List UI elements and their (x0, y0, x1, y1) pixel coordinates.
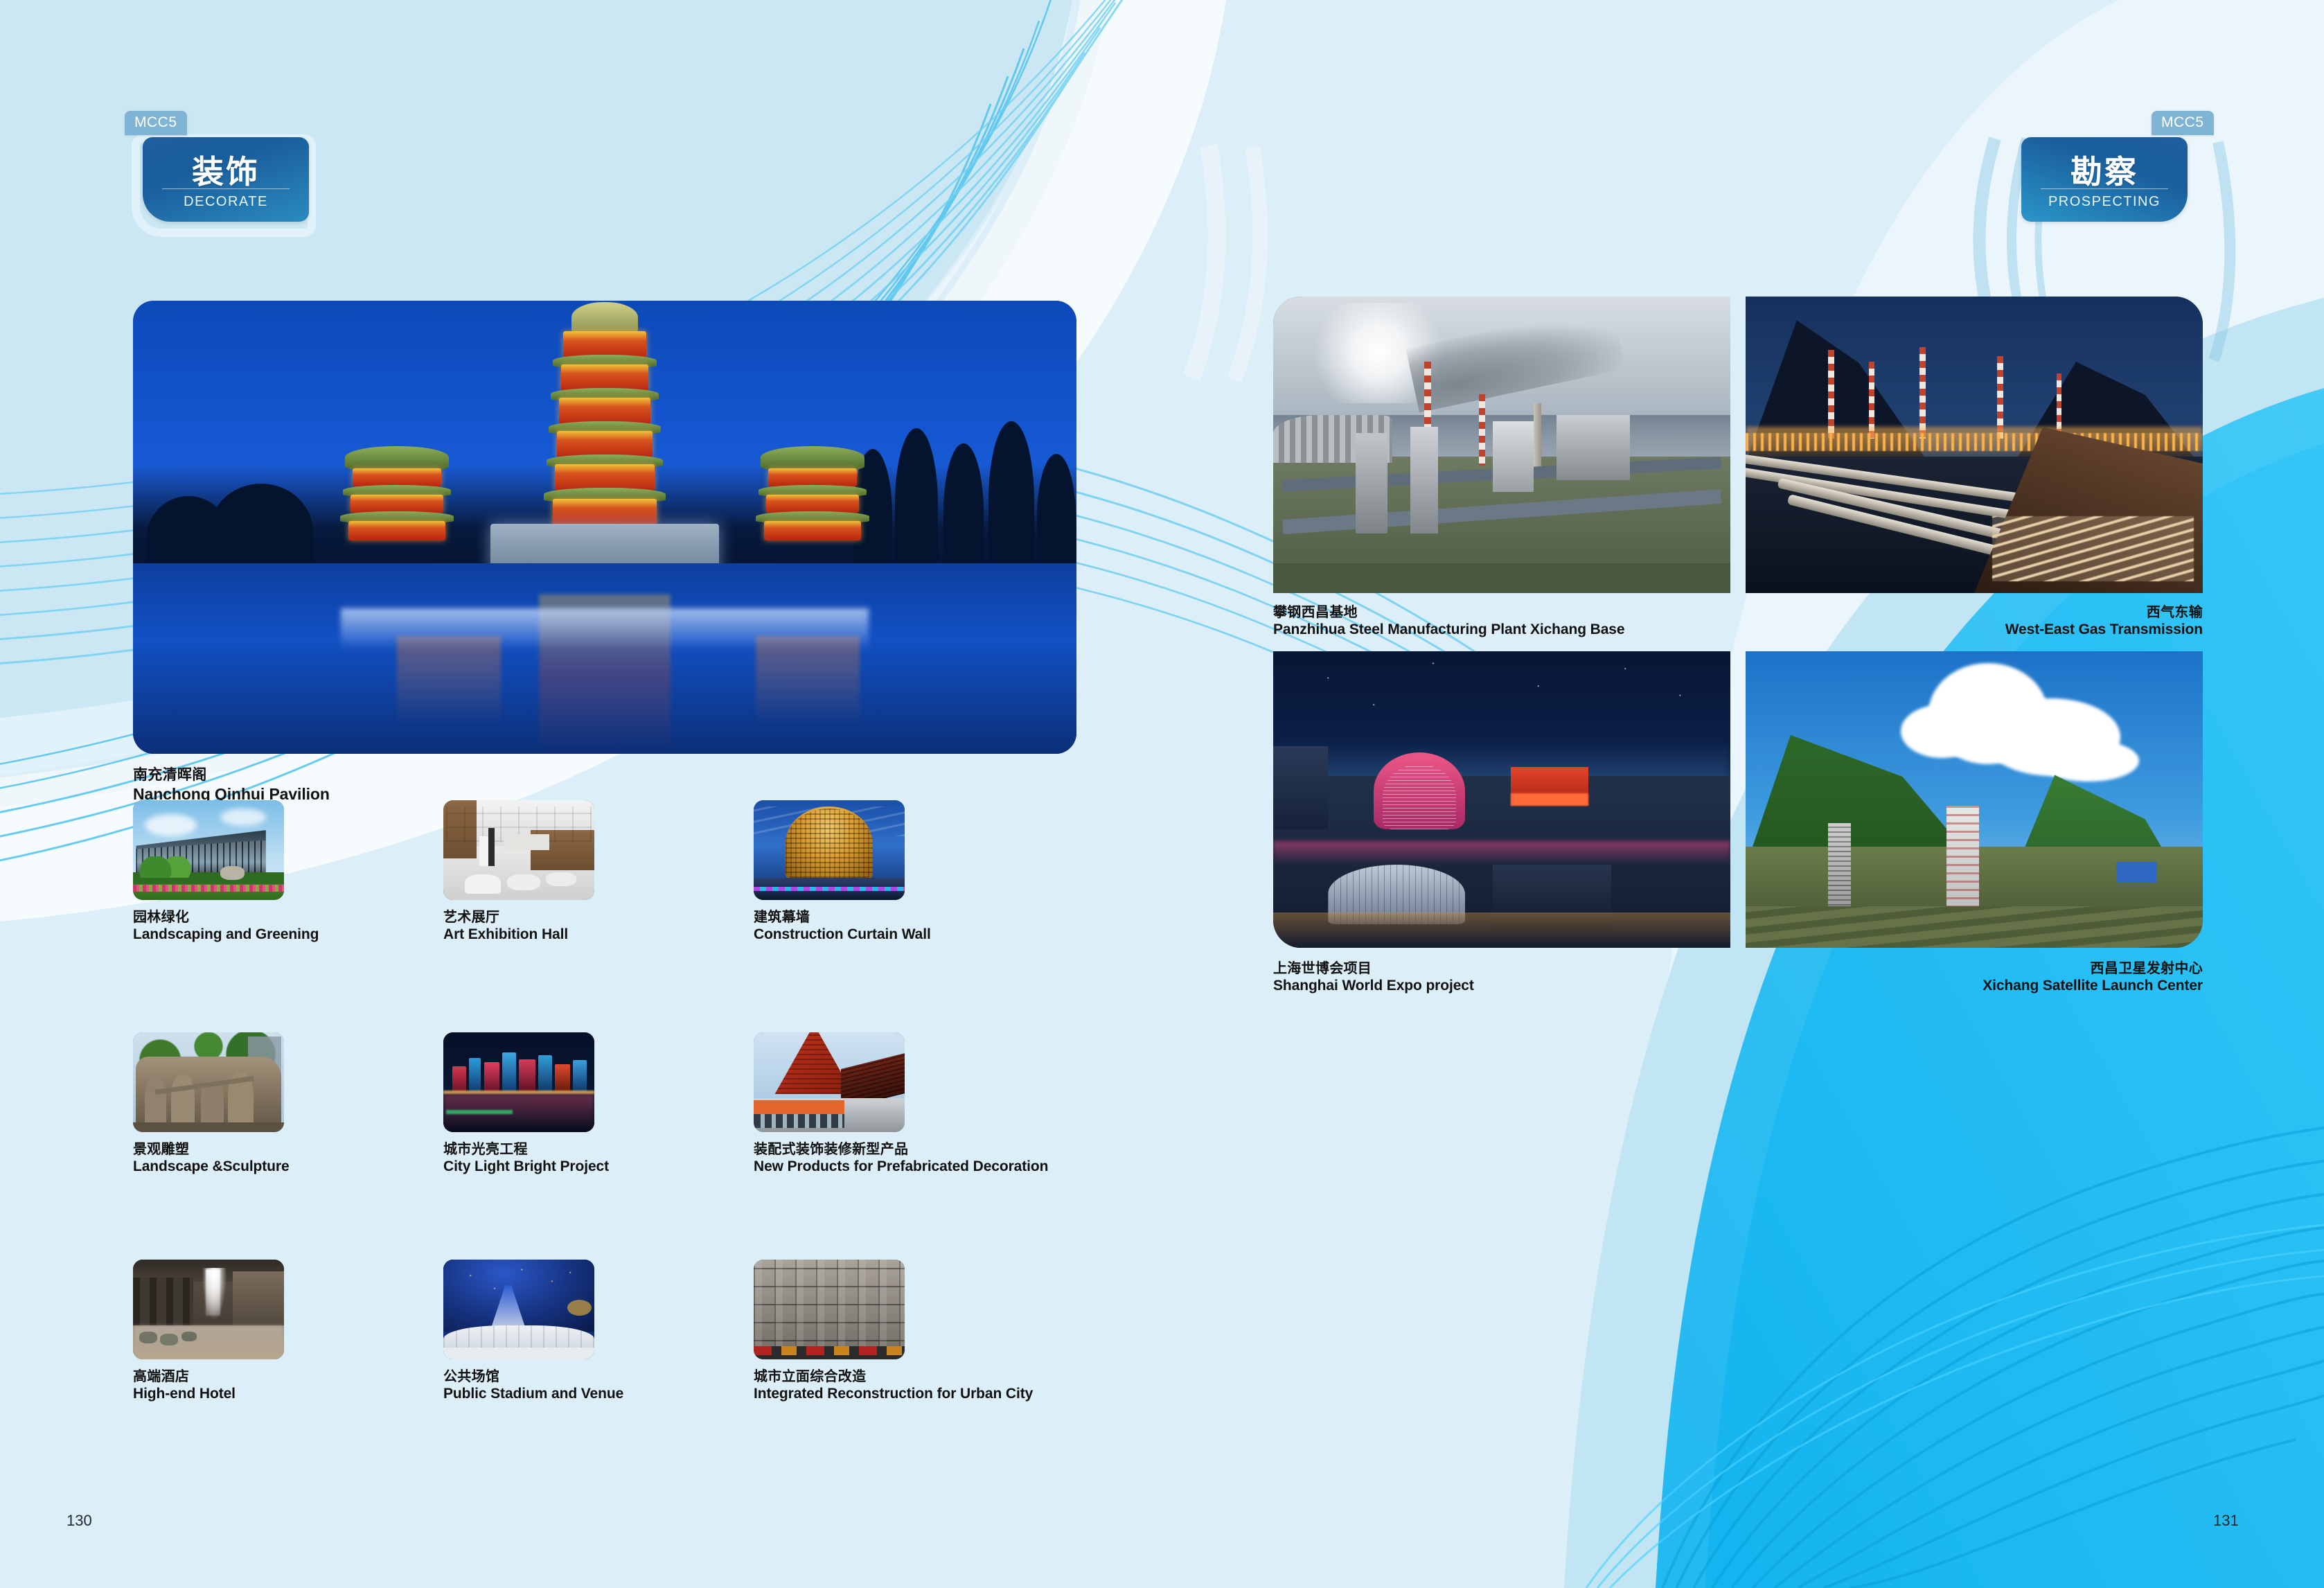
caption-right-0: 攀钢西昌基地 Panzhihua Steel Manufacturing Pla… (1273, 604, 1624, 639)
photo-west-east-gas-transmission[interactable] (1746, 297, 2203, 593)
thumb-photo-landscaping-greening[interactable] (133, 800, 284, 900)
caption-cn: 园林绿化 (133, 909, 319, 926)
badge-title-cn: 装饰 (143, 147, 309, 193)
badge-title-cn: 勘察 (2021, 147, 2188, 193)
thumb-photo-prefabricated-decoration[interactable] (754, 1032, 905, 1132)
badge-title-en: DECORATE (143, 194, 309, 210)
caption-en: Shanghai World Expo project (1273, 977, 1474, 995)
thumb-photo-urban-facade-reconstruction[interactable] (754, 1260, 905, 1359)
badge-divider (2041, 188, 2168, 189)
caption-en: Xichang Satellite Launch Center (1746, 977, 2203, 995)
caption-cn: 城市光亮工程 (443, 1141, 609, 1158)
caption-thumb-7: 公共场馆 Public Stadium and Venue (443, 1368, 623, 1403)
caption-thumb-2: 建筑幕墙 Construction Curtain Wall (754, 909, 931, 944)
caption-cn: 城市立面综合改造 (754, 1368, 1033, 1385)
thumb-photo-construction-curtain-wall[interactable] (754, 800, 905, 900)
caption-cn: 攀钢西昌基地 (1273, 604, 1624, 621)
caption-right-3: 西昌卫星发射中心 Xichang Satellite Launch Center (1746, 960, 2203, 995)
caption-right-1: 西气东输 West-East Gas Transmission (1746, 604, 2203, 639)
caption-en: New Products for Prefabricated Decoratio… (754, 1158, 1048, 1176)
caption-hero: 南充清晖阁 Nanchong Qinhui Pavilion (133, 766, 330, 804)
caption-cn: 南充清晖阁 (133, 766, 330, 784)
photo-xichang-satellite-launch-center[interactable] (1746, 651, 2203, 948)
caption-right-2: 上海世博会项目 Shanghai World Expo project (1273, 960, 1474, 995)
caption-cn: 建筑幕墙 (754, 909, 931, 926)
caption-thumb-3: 景观雕塑 Landscape &Sculpture (133, 1141, 290, 1176)
badge-plate: 勘察 PROSPECTING (2021, 137, 2188, 222)
badge-tag-mcc5: MCC5 (2152, 111, 2214, 135)
caption-cn: 高端酒店 (133, 1368, 236, 1385)
caption-thumb-6: 高端酒店 High-end Hotel (133, 1368, 236, 1403)
thumb-photo-landscape-sculpture[interactable] (133, 1032, 284, 1132)
caption-cn: 景观雕塑 (133, 1141, 290, 1158)
caption-en: Public Stadium and Venue (443, 1385, 623, 1403)
thumb-photo-city-light-bright-project[interactable] (443, 1032, 594, 1132)
caption-cn: 上海世博会项目 (1273, 960, 1474, 977)
brochure-spread: 装饰 DECORATE MCC5 勘察 PROSPECTING MCC5 (0, 0, 2324, 1588)
badge-plate: 装饰 DECORATE (143, 137, 309, 222)
hero-photo-nanchong-qinhui-pavilion[interactable] (133, 301, 1076, 754)
caption-en: City Light Bright Project (443, 1158, 609, 1176)
caption-en: Panzhihua Steel Manufacturing Plant Xich… (1273, 621, 1624, 639)
caption-en: Integrated Reconstruction for Urban City (754, 1385, 1033, 1403)
caption-cn: 公共场馆 (443, 1368, 623, 1385)
caption-en: Art Exhibition Hall (443, 926, 568, 944)
caption-cn: 装配式装饰装修新型产品 (754, 1141, 1048, 1158)
caption-en: High-end Hotel (133, 1385, 236, 1403)
caption-thumb-0: 园林绿化 Landscaping and Greening (133, 909, 319, 944)
caption-thumb-5: 装配式装饰装修新型产品 New Products for Prefabricat… (754, 1141, 1048, 1176)
caption-cn: 艺术展厅 (443, 909, 568, 926)
caption-en: Construction Curtain Wall (754, 926, 931, 944)
thumb-photo-art-exhibition-hall[interactable] (443, 800, 594, 900)
caption-en: Landscape &Sculpture (133, 1158, 290, 1176)
caption-en: West-East Gas Transmission (1746, 621, 2203, 639)
page-number-right: 131 (2213, 1512, 2239, 1530)
thumb-photo-public-stadium-venue[interactable] (443, 1260, 594, 1359)
caption-thumb-8: 城市立面综合改造 Integrated Reconstruction for U… (754, 1368, 1033, 1403)
badge-divider (162, 188, 290, 189)
caption-cn: 西气东输 (1746, 604, 2203, 621)
badge-title-en: PROSPECTING (2021, 194, 2188, 210)
caption-en: Landscaping and Greening (133, 926, 319, 944)
caption-thumb-4: 城市光亮工程 City Light Bright Project (443, 1141, 609, 1176)
badge-tag-mcc5: MCC5 (125, 111, 187, 135)
page-number-left: 130 (66, 1512, 92, 1530)
thumb-photo-high-end-hotel[interactable] (133, 1260, 284, 1359)
caption-thumb-1: 艺术展厅 Art Exhibition Hall (443, 909, 568, 944)
photo-shanghai-world-expo[interactable] (1273, 651, 1730, 948)
caption-cn: 西昌卫星发射中心 (1746, 960, 2203, 977)
photo-panzhihua-steel-plant[interactable] (1273, 297, 1730, 593)
